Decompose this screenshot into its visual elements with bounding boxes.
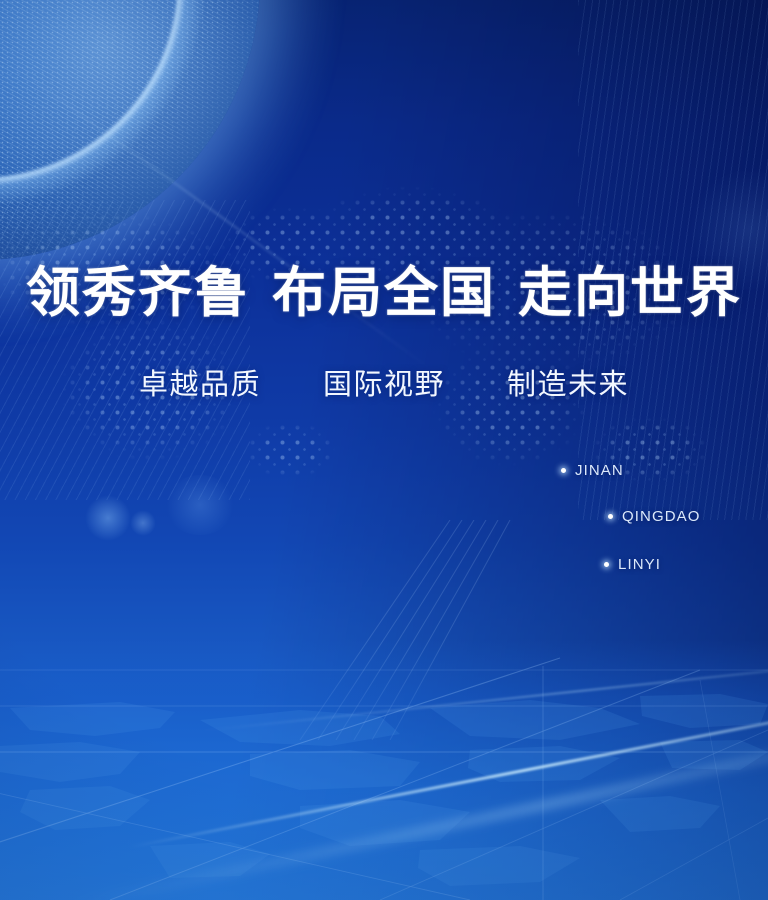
vignette-overlay xyxy=(0,0,768,900)
promo-banner: 领秀齐鲁布局全国走向世界 卓越品质国际视野制造未来 JINAN QINGDAO … xyxy=(0,0,768,900)
